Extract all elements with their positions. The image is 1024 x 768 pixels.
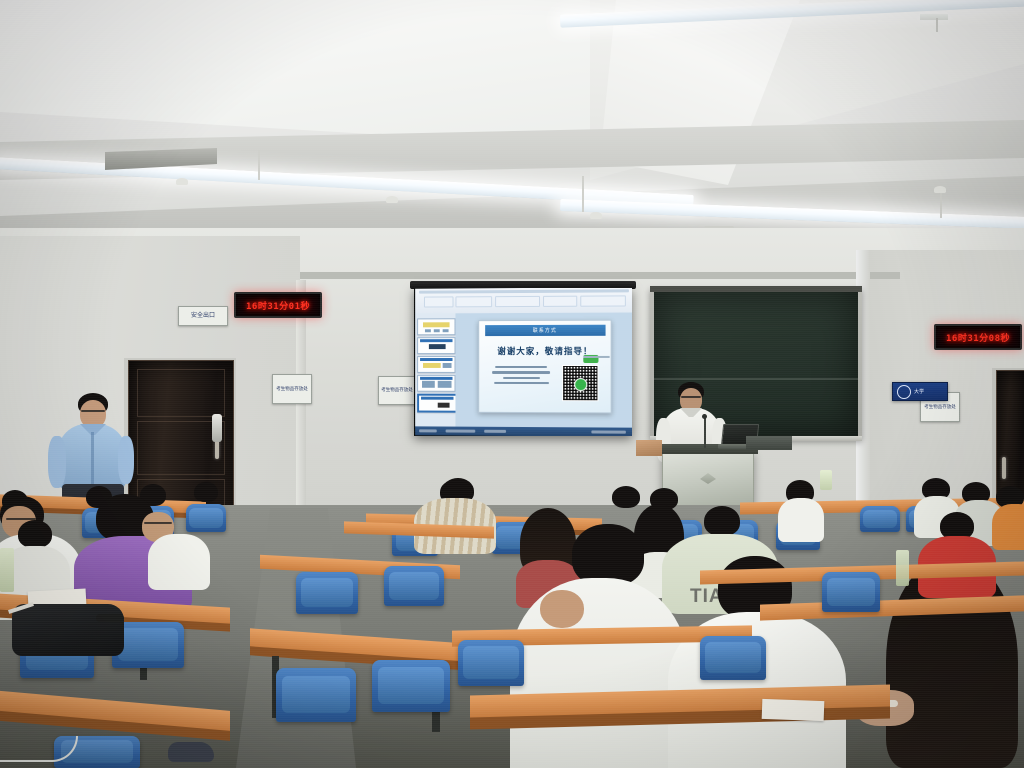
audience-head (194, 482, 218, 502)
water-bottle (0, 548, 14, 592)
observer-glasses-icon (81, 410, 105, 412)
lecture-hall-photo: 16时31分01秒 16时31分08秒 安全出口 考生物品存放处 考生物品存放处… (0, 0, 1024, 768)
thumb-shape (442, 329, 448, 332)
current-slide: 联系方式 谢谢大家，敬请指导！ (479, 320, 612, 414)
podium-microphone-stem (704, 418, 706, 448)
status-item (419, 430, 436, 433)
notice-sign-a: 考生物品存放处 (272, 374, 312, 404)
audience-hand (540, 590, 584, 628)
status-item (591, 431, 626, 434)
led-clock-right: 16时31分08秒 (934, 324, 1022, 350)
seat-cushion (378, 667, 444, 703)
light-hanger-2 (258, 150, 260, 180)
eyeglasses-icon (96, 614, 124, 622)
seat[interactable] (822, 572, 880, 612)
ppt-thumbnail[interactable] (417, 318, 456, 335)
ppt-thumbnail[interactable] (417, 356, 456, 373)
thumb-shape (423, 363, 441, 367)
ppt-slide-thumbnail-panel[interactable] (415, 313, 457, 426)
thumb-shape (421, 397, 453, 400)
notice-sign-b: 考生物品存放处 (378, 376, 416, 405)
door-handle-icon[interactable] (1002, 457, 1006, 479)
contact-line (494, 382, 549, 384)
university-plaque: 大学 (892, 382, 948, 401)
seat[interactable] (186, 504, 226, 532)
ceiling-light-bracket-1 (920, 14, 948, 20)
podium-side-panel (746, 436, 792, 450)
notebook-paper (762, 699, 825, 721)
seat-cushion (118, 628, 179, 660)
slide-contact-lines (491, 363, 551, 388)
qr-center-logo-icon (574, 378, 587, 391)
wechat-qr-code (562, 365, 598, 402)
light-mount-3 (590, 212, 602, 219)
audience-torso-front-center (510, 578, 688, 768)
light-hanger-1 (936, 18, 938, 32)
blackboard-top-track (650, 286, 862, 292)
observer-arm-right (118, 436, 134, 484)
plaque-text: 大学 (914, 388, 924, 395)
light-hanger-4 (940, 190, 942, 218)
seat[interactable] (860, 506, 900, 532)
led-clock-right-text: 16时31分08秒 (946, 331, 1010, 344)
seat-cushion (705, 642, 760, 673)
audience-head (612, 486, 640, 508)
contact-line (495, 366, 547, 368)
thumb-shape (434, 329, 440, 332)
ppt-slide-stage: 联系方式 谢谢大家，敬请指导！ (456, 313, 632, 428)
thumb-shape (420, 377, 452, 380)
ppt-ribbon (415, 288, 632, 315)
audience-torso (778, 498, 824, 542)
light-mount-4 (934, 186, 946, 193)
seat[interactable] (700, 636, 766, 680)
light-hanger-3 (582, 176, 584, 212)
status-item (445, 430, 475, 433)
contact-line (492, 371, 550, 373)
thumb-shape (429, 344, 445, 350)
qr-caption-line (583, 356, 609, 358)
seat-cushion (463, 646, 518, 678)
exit-sign: 安全出口 (178, 306, 228, 326)
podium-microphone-head-icon (702, 414, 707, 419)
audience-head (18, 520, 52, 548)
audience-head (572, 524, 644, 586)
podium-emblem-icon (700, 473, 716, 484)
plaque-seal-icon (897, 385, 911, 399)
seat-cushion (282, 676, 349, 714)
door-lever-left[interactable] (212, 414, 222, 442)
seat[interactable] (276, 668, 356, 722)
thumb-shape (420, 358, 452, 361)
slide-title-text: 联系方式 (533, 327, 557, 334)
slide-title-bar: 联系方式 (485, 324, 606, 336)
thumb-shape (423, 322, 449, 327)
thumb-shape (422, 381, 435, 388)
backpack (12, 604, 124, 656)
ppt-thumbnail[interactable] (417, 375, 456, 392)
observer-shirt-placket (91, 432, 94, 484)
observer-arm-left (48, 436, 66, 488)
notice-sign-c-text: 考生物品存放处 (924, 405, 956, 410)
notice-sign-b-text: 考生物品存放处 (381, 388, 413, 393)
ppt-ribbon-group (424, 296, 454, 307)
projection-screen: 联系方式 谢谢大家，敬请指导！ (414, 288, 632, 436)
seat-cushion (827, 578, 876, 606)
seat-cushion (389, 572, 439, 600)
seat-cushion (301, 578, 353, 607)
shoe (168, 742, 214, 762)
water-bottle (896, 550, 909, 586)
seat[interactable] (296, 572, 358, 614)
audience-torso (992, 504, 1024, 550)
ppt-tab-row (419, 289, 628, 293)
seat-cushion (863, 510, 897, 528)
ppt-ribbon-group (495, 296, 541, 307)
blackboard-divider (654, 378, 858, 380)
door-panel (137, 369, 225, 417)
audience-glasses-icon (144, 522, 172, 524)
thumb-shape (438, 381, 451, 388)
light-mount-2 (386, 196, 398, 203)
audience-torso (148, 534, 210, 590)
contact-line (503, 377, 540, 379)
ppt-ribbon-group (456, 296, 493, 307)
led-clock-left-text: 16时31分01秒 (246, 299, 310, 312)
ppt-thumbnail[interactable] (417, 337, 456, 354)
thumb-shape (438, 402, 449, 408)
thumb-shape (443, 363, 451, 367)
thumb-shape (425, 329, 431, 332)
audience-head (704, 506, 740, 536)
ppt-ribbon-group (543, 296, 578, 307)
led-clock-left: 16时31分01秒 (234, 292, 322, 318)
ppt-status-bar (415, 426, 632, 436)
water-bottle (820, 470, 832, 490)
presenter-glasses-icon (681, 396, 701, 398)
thumb-shape (420, 339, 452, 342)
wall-trim (300, 272, 900, 279)
seat-cushion (189, 508, 223, 528)
status-item (484, 430, 506, 433)
podium-cloth (636, 440, 662, 456)
seat[interactable] (372, 660, 450, 712)
ppt-ribbon-group (580, 295, 626, 306)
projected-image: 联系方式 谢谢大家，敬请指导！ (415, 288, 632, 436)
light-mount-1 (176, 178, 188, 185)
seat[interactable] (458, 640, 524, 686)
notice-sign-a-text: 考生物品存放处 (276, 387, 308, 392)
exit-sign-text: 安全出口 (191, 313, 215, 319)
ppt-thumbnail-selected[interactable] (417, 394, 458, 413)
seat[interactable] (384, 566, 444, 606)
